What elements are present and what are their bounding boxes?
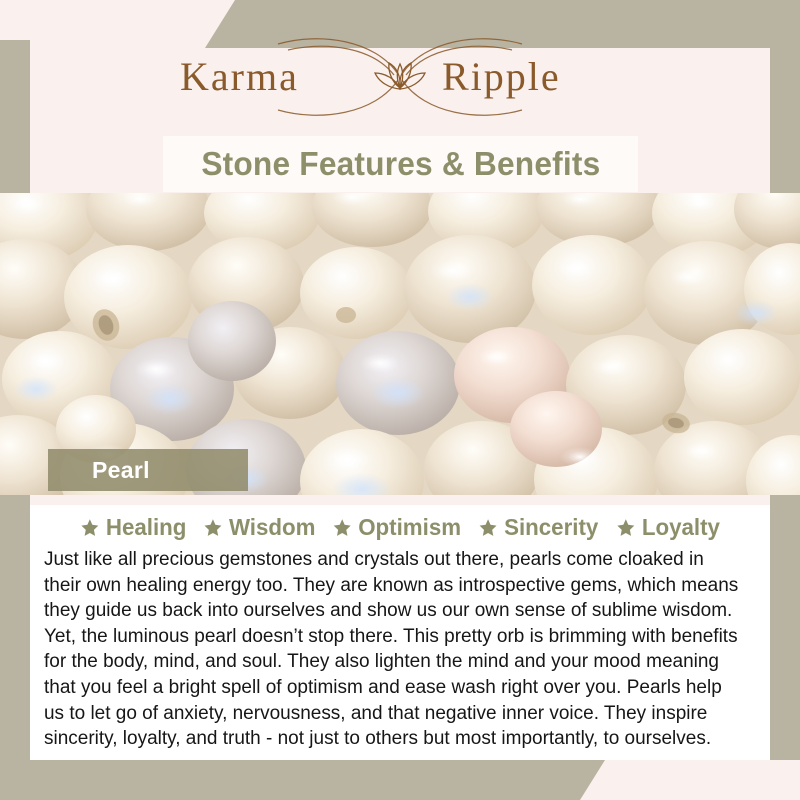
keyword-item: Sincerity [479,514,598,541]
description-paragraph: Just like all precious gemstones and cry… [44,547,745,752]
brand-name-left: Karma [180,54,299,99]
keyword-item: Wisdom [204,514,316,541]
keyword-label: Sincerity [504,514,598,541]
keyword-item: Healing [81,514,187,541]
content-panel: Healing Wisdom Optimism Sincerity Loyalt… [30,505,770,760]
star-icon [204,518,222,537]
stone-name-label: Pearl [48,449,248,491]
keyword-label: Wisdom [229,514,316,541]
keyword-label: Healing [106,514,187,541]
keyword-list: Healing Wisdom Optimism Sincerity Loyalt… [30,505,770,541]
logo-artwork: Karma Ripple [170,30,630,125]
brand-name-right: Ripple [442,54,561,99]
star-icon [333,518,351,537]
keyword-label: Optimism [358,514,461,541]
star-icon [479,518,497,537]
brand-logo: Karma Ripple [0,30,800,125]
infographic-card: Karma Ripple Stone Features & Benefits [0,0,800,800]
keyword-item: Optimism [333,514,461,541]
header-banner: Stone Features & Benefits [163,136,638,192]
stone-name-text: Pearl [48,457,150,484]
keyword-item: Loyalty [616,514,719,541]
star-icon [81,518,99,537]
page-title: Stone Features & Benefits [201,145,600,183]
star-icon [616,518,634,537]
keyword-label: Loyalty [641,514,719,541]
